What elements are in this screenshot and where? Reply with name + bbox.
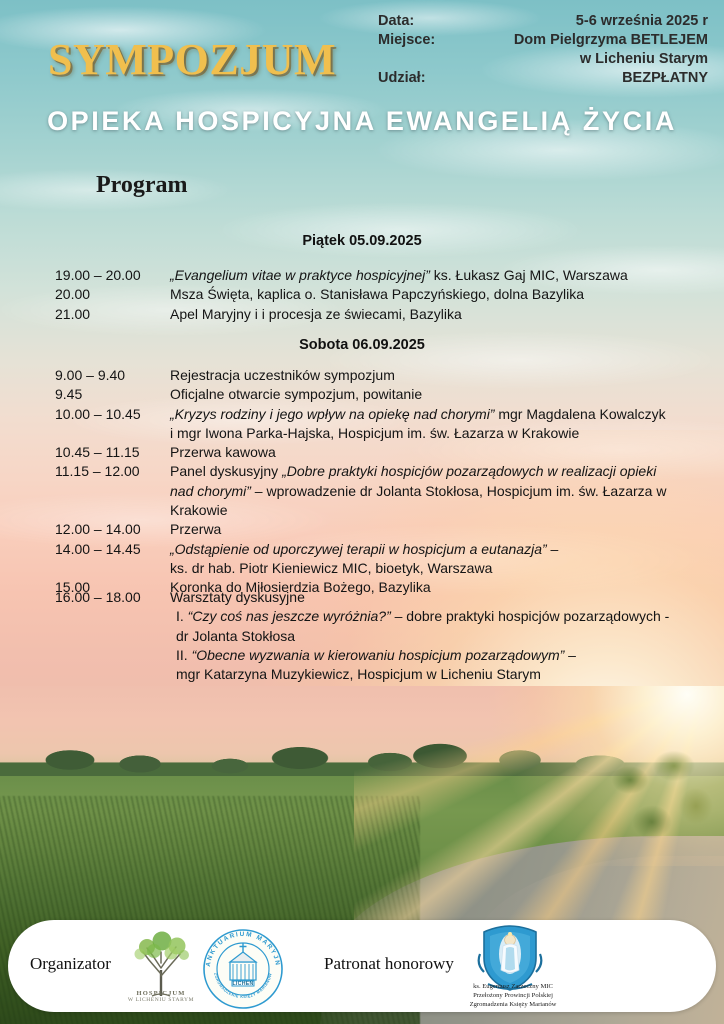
row-time: 19.00 – 20.00 — [55, 266, 170, 285]
row-time: 12.00 – 14.00 — [55, 520, 170, 539]
program-heading: Program — [96, 172, 188, 199]
row-desc-italic: „Kryzys rodziny i jego wpływ na opiekę n… — [170, 406, 494, 422]
poster-header: SYMPOZJUM Data: 5-6 września 2025 r Miej… — [0, 0, 724, 150]
schedule-row: 21.00 Apel Maryjny i i procesja ze świec… — [55, 305, 695, 324]
row-time: 9.45 — [55, 385, 170, 404]
date-label: Data: — [378, 12, 414, 31]
patron-line-1: ks. Eugeniusz Zarzeczny MIC — [438, 982, 588, 991]
date-value: 5-6 września 2025 r — [576, 12, 708, 31]
row-desc: Warsztaty dyskusyjne — [170, 588, 695, 607]
svg-text:LICHEŃ: LICHEŃ — [232, 979, 253, 987]
roadside-bush — [600, 746, 720, 866]
place-label: Miejsce: — [378, 31, 435, 50]
row-desc-rest: ks. Łukasz Gaj MIC, Warszawa — [430, 267, 628, 283]
row-desc-italic: nad chorymi” — [170, 483, 251, 499]
row-time: 11.15 – 12.00 — [55, 462, 170, 481]
workshop-1-italic: “Czy coś nas jeszcze wyróżnia?” — [188, 608, 391, 624]
patron-caption: ks. Eugeniusz Zarzeczny MIC Przełożony P… — [438, 982, 588, 1009]
row-desc-rest: – — [547, 541, 559, 557]
place-value-line1: Dom Pielgrzyma BETLEJEM — [514, 31, 708, 50]
participation-label: Udział: — [378, 69, 426, 88]
row-desc: Przerwa — [170, 520, 695, 539]
schedule-row: 20.00 Msza Święta, kaplica o. Stanisława… — [55, 285, 695, 304]
schedule-row-continuation: Krakowie — [55, 501, 695, 520]
row-desc-rest: mgr Magdalena Kowalczyk — [494, 406, 665, 422]
schedule-friday: 19.00 – 20.00 „Evangelium vitae w prakty… — [55, 266, 695, 324]
patronage-label: Patronat honorowy — [324, 954, 454, 974]
row-desc: Rejestracja uczestników sympozjum — [170, 366, 695, 385]
schedule-row-continuation: i mgr Iwona Parka-Hajska, Hospicjum im. … — [55, 424, 695, 443]
hospicjum-logo-name: HOSPICJUM — [118, 990, 204, 997]
hospicjum-tree-logo: HOSPICJUM W LICHENIU STARYM — [118, 930, 204, 1010]
schedule-row: 16.00 – 18.00 Warsztaty dyskusyjne — [55, 588, 695, 607]
schedule-row: 10.45 – 11.15 Przerwa kawowa — [55, 443, 695, 462]
row-desc-rest: – wprowadzenie dr Jolanta Stokłosa, Hosp… — [251, 483, 667, 499]
sanktuarium-licheń-logo: LICHEŃ SANKTUARIUM MARYJNE ZGROMADZENIE … — [202, 928, 284, 1010]
row-desc-italic: „Odstąpienie od uporczywej terapii w hos… — [170, 541, 547, 557]
schedule-row: 9.45 Oficjalne otwarcie sympozjum, powit… — [55, 385, 695, 404]
workshop-1-rest: – dobre praktyki hospicjów pozarządowych… — [391, 608, 670, 624]
workshop-1-prefix: I. — [176, 608, 188, 624]
workshop-item-1-line2: dr Jolanta Stokłosa — [55, 627, 695, 646]
schedule-row-continuation: nad chorymi” – wprowadzenie dr Jolanta S… — [55, 482, 695, 501]
row-desc-italic: „Evangelium vitae w praktyce hospicyjnej… — [170, 267, 430, 283]
patron-line-2: Przełożony Prowincji Polskiej — [438, 991, 588, 1000]
row-desc: „Evangelium vitae w praktyce hospicyjnej… — [170, 266, 695, 285]
schedule-row: 14.00 – 14.45 „Odstąpienie od uporczywej… — [55, 540, 695, 559]
row-time: 16.00 – 18.00 — [55, 588, 170, 607]
info-row-participation: Udział: BEZPŁATNY — [378, 69, 708, 88]
day-heading-friday: Piątek 05.09.2025 — [0, 233, 724, 249]
poster: SYMPOZJUM Data: 5-6 września 2025 r Miej… — [0, 0, 724, 1024]
row-time: 20.00 — [55, 285, 170, 304]
row-desc: Przerwa kawowa — [170, 443, 695, 462]
organizer-label: Organizator — [30, 954, 111, 974]
event-info-block: Data: 5-6 września 2025 r Miejsce: Dom P… — [378, 12, 708, 88]
schedule-row: 19.00 – 20.00 „Evangelium vitae w prakty… — [55, 266, 695, 285]
workshop-item-2-line2: mgr Katarzyna Muzykiewicz, Hospicjum w L… — [55, 665, 695, 684]
row-time: 10.45 – 11.15 — [55, 443, 170, 462]
sponsor-footer: Organizator Patronat honorowy HOSPICJUM … — [8, 920, 716, 1012]
patron-line-3: Zgromadzenia Księży Marianów — [438, 1000, 588, 1009]
row-time: 21.00 — [55, 305, 170, 324]
page-title: SYMPOZJUM — [48, 34, 336, 85]
row-desc: Msza Święta, kaplica o. Stanisława Papcz… — [170, 285, 695, 304]
info-row-place: Miejsce: Dom Pielgrzyma BETLEJEM — [378, 31, 708, 50]
workshop-item-1: I. “Czy coś nas jeszcze wyróżnia?” – dob… — [55, 607, 695, 626]
workshop-2-prefix: II. — [176, 647, 192, 663]
basilica-seal-icon: LICHEŃ SANKTUARIUM MARYJNE ZGROMADZENIE … — [202, 928, 284, 1010]
info-row-place-2: w Licheniu Starym — [378, 50, 708, 69]
day-heading-saturday: Sobota 06.09.2025 — [0, 337, 724, 353]
page-subtitle: OPIEKA HOSPICYJNA EWANGELIĄ ŻYCIA — [0, 106, 724, 137]
hospicjum-logo-caption: HOSPICJUM W LICHENIU STARYM — [118, 990, 204, 1004]
info-row-date: Data: 5-6 września 2025 r — [378, 12, 708, 31]
row-desc-italic: „Dobre praktyki hospicjów pozarządowych … — [282, 463, 656, 479]
schedule-row: 10.00 – 10.45 „Kryzys rodziny i jego wpł… — [55, 405, 695, 424]
schedule-row: 12.00 – 14.00 Przerwa — [55, 520, 695, 539]
sanktuarium-center-text: LICHEŃ — [232, 979, 253, 987]
row-time: 14.00 – 14.45 — [55, 540, 170, 559]
schedule-row: 11.15 – 12.00 Panel dyskusyjny „Dobre pr… — [55, 462, 695, 481]
schedule-row: 9.00 – 9.40 Rejestracja uczestników symp… — [55, 366, 695, 385]
row-desc: „Kryzys rodziny i jego wpływ na opiekę n… — [170, 405, 695, 424]
row-desc: Oficjalne otwarcie sympozjum, powitanie — [170, 385, 695, 404]
row-time: 10.00 – 10.45 — [55, 405, 170, 424]
workshop-item-2: II. “Obecne wyzwania w kierowaniu hospic… — [55, 646, 695, 665]
row-desc: „Odstąpienie od uporczywej terapii w hos… — [170, 540, 695, 559]
row-desc: Apel Maryjny i i procesja ze świecami, B… — [170, 305, 695, 324]
workshop-2-rest: – — [564, 647, 576, 663]
row-desc-prefix: Panel dyskusyjny — [170, 463, 282, 479]
schedule-workshops: 16.00 – 18.00 Warsztaty dyskusyjne I. “C… — [55, 588, 695, 684]
place-value-line2: w Licheniu Starym — [580, 50, 708, 69]
schedule-saturday: 9.00 – 9.40 Rejestracja uczestników symp… — [55, 366, 695, 598]
schedule-row-continuation: ks. dr hab. Piotr Kieniewicz MIC, bioety… — [55, 559, 695, 578]
row-desc: Panel dyskusyjny „Dobre praktyki hospicj… — [170, 462, 695, 481]
row-time: 9.00 – 9.40 — [55, 366, 170, 385]
workshop-2-italic: “Obecne wyzwania w kierowaniu hospicjum … — [192, 647, 565, 663]
hospicjum-logo-sub: W LICHENIU STARYM — [128, 997, 194, 1003]
participation-value: BEZPŁATNY — [622, 69, 708, 88]
